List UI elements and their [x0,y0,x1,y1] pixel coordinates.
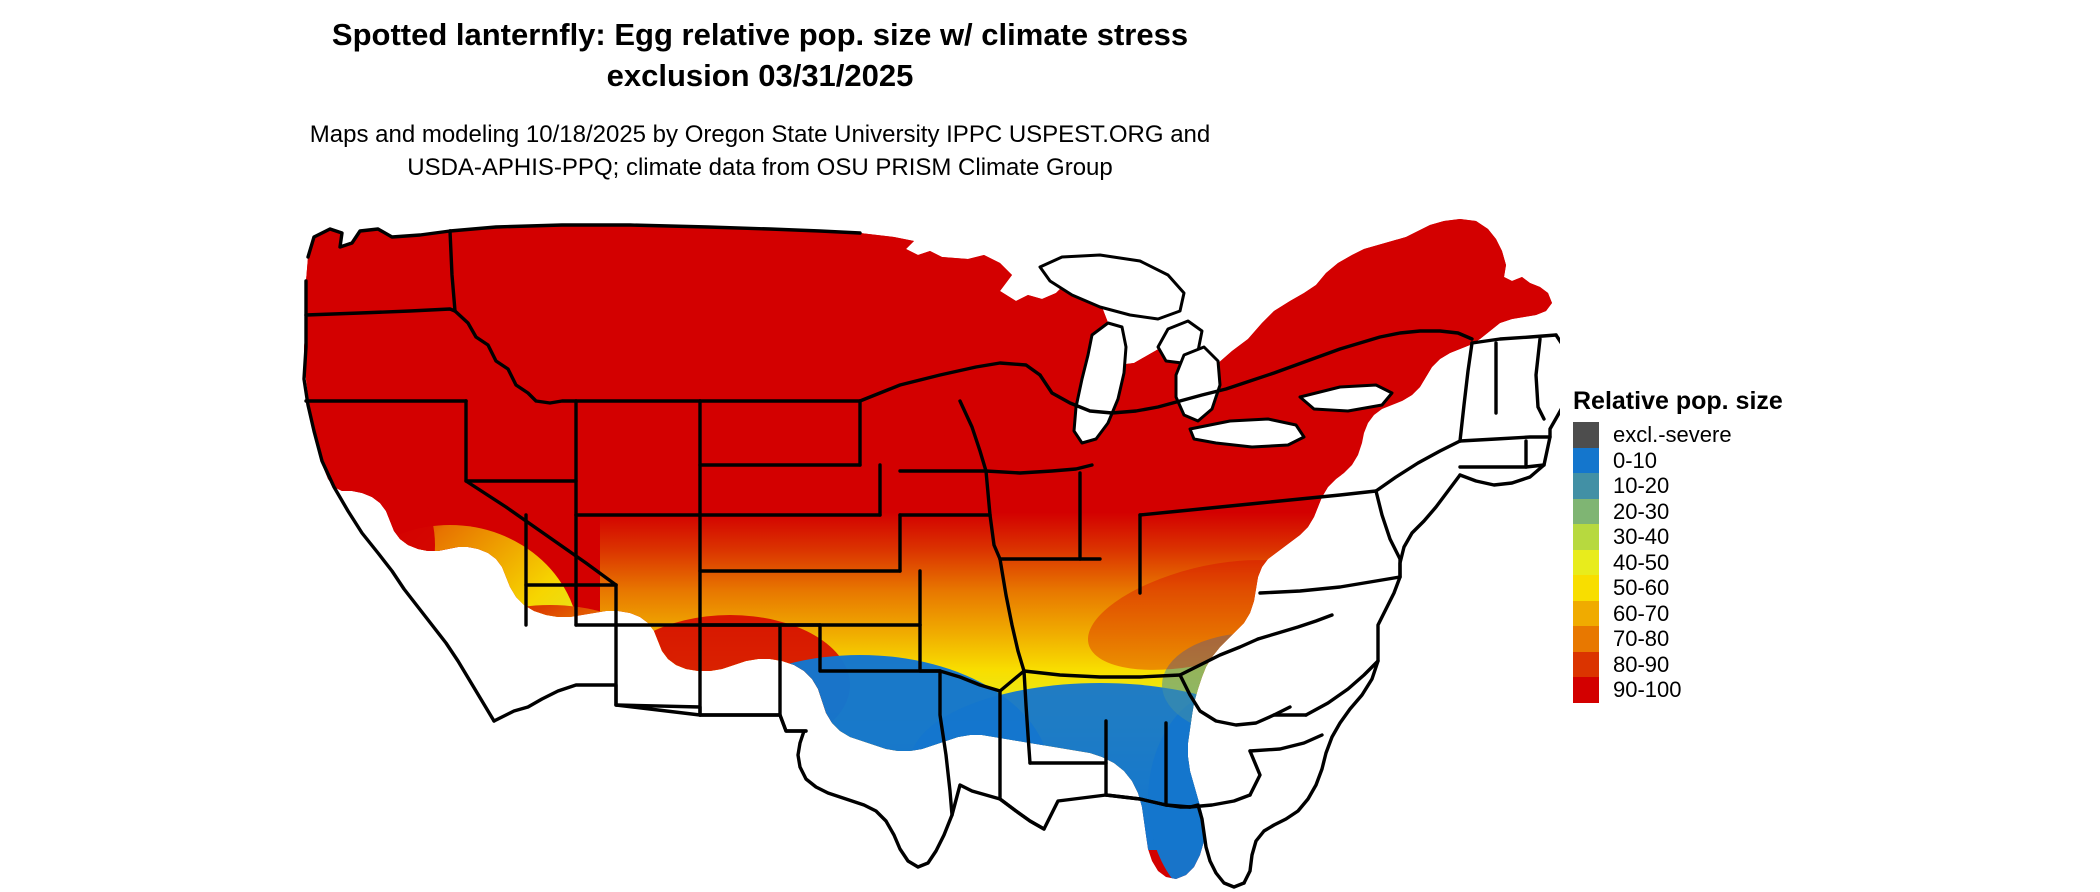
legend-items-list: excl.-severe0-1010-2020-3030-4040-5050-6… [1573,422,1893,703]
page-subtitle: Maps and modeling 10/18/2025 by Oregon S… [0,118,1520,184]
legend-color-swatch [1573,524,1599,550]
legend-item[interactable]: 80-90 [1573,652,1893,678]
border-ma-north [1460,437,1550,441]
legend-item-label: 20-30 [1613,499,1669,525]
us-choropleth-map [300,215,1560,890]
legend-item-label: 70-80 [1613,626,1669,652]
page-subtitle-line-2: USDA-APHIS-PPQ; climate data from OSU PR… [0,151,1520,184]
legend-color-swatch [1573,448,1599,474]
legend-item[interactable]: excl.-severe [1573,422,1893,448]
legend-color-swatch [1573,422,1599,448]
legend-color-swatch [1573,550,1599,576]
legend-item[interactable]: 60-70 [1573,601,1893,627]
legend-color-swatch [1573,499,1599,525]
legend-item-label: 80-90 [1613,652,1669,678]
border-canada-vt-nh [1472,335,1556,343]
legend-item-label: 0-10 [1613,448,1657,474]
border-nh-me [1536,339,1544,419]
border-ga-sc [1250,751,1260,795]
legend-color-swatch [1573,652,1599,678]
page-title-line-1: Spotted lanternfly: Egg relative pop. si… [0,14,1520,55]
border-sc-nc [1250,735,1322,751]
legend-item[interactable]: 40-50 [1573,550,1893,576]
legend-item-label: 30-40 [1613,524,1669,550]
page-title-line-2: exclusion 03/31/2025 [0,55,1520,96]
legend-item[interactable]: 10-20 [1573,473,1893,499]
border-pa-md-wv [1260,577,1400,593]
legend-item[interactable]: 30-40 [1573,524,1893,550]
us-map-svg [300,215,1560,890]
northern-california-region [355,480,435,610]
lower-colorado-river-region [500,675,740,835]
legend-item[interactable]: 90-100 [1573,677,1893,703]
legend-item-label: excl.-severe [1613,422,1732,448]
legend-item-label: 90-100 [1613,677,1682,703]
border-nm-tx-south [700,715,806,731]
border-wv-va [1258,615,1332,639]
legend-color-swatch [1573,626,1599,652]
legend-title: Relative pop. size [1573,386,1893,416]
map-page: Spotted lanternfly: Egg relative pop. si… [0,0,2100,892]
arizona-highlands-region [610,615,850,755]
legend-color-swatch [1573,473,1599,499]
border-ma-ct-ri [1460,465,1544,467]
border-atlantic-ne [1460,335,1560,485]
legend-item[interactable]: 50-60 [1573,575,1893,601]
map-legend: Relative pop. size excl.-severe0-1010-20… [1573,386,1893,703]
border-ny-interior [1376,441,1460,491]
california-valley-region [320,525,580,765]
page-subtitle-line-1: Maps and modeling 10/18/2025 by Oregon S… [0,118,1520,151]
legend-color-swatch [1573,575,1599,601]
legend-item-label: 40-50 [1613,550,1669,576]
legend-color-swatch [1573,601,1599,627]
map-raster-layer [300,215,1560,890]
mojave-sonoran-region [400,605,700,825]
legend-item[interactable]: 70-80 [1573,626,1893,652]
legend-item-label: 10-20 [1613,473,1669,499]
legend-color-swatch [1573,677,1599,703]
legend-item[interactable]: 0-10 [1573,448,1893,474]
border-pa-nj [1376,491,1400,577]
legend-item[interactable]: 20-30 [1573,499,1893,525]
border-ny-vt [1460,343,1472,441]
legend-item-label: 60-70 [1613,601,1669,627]
page-title: Spotted lanternfly: Egg relative pop. si… [0,14,1520,96]
legend-item-label: 50-60 [1613,575,1669,601]
